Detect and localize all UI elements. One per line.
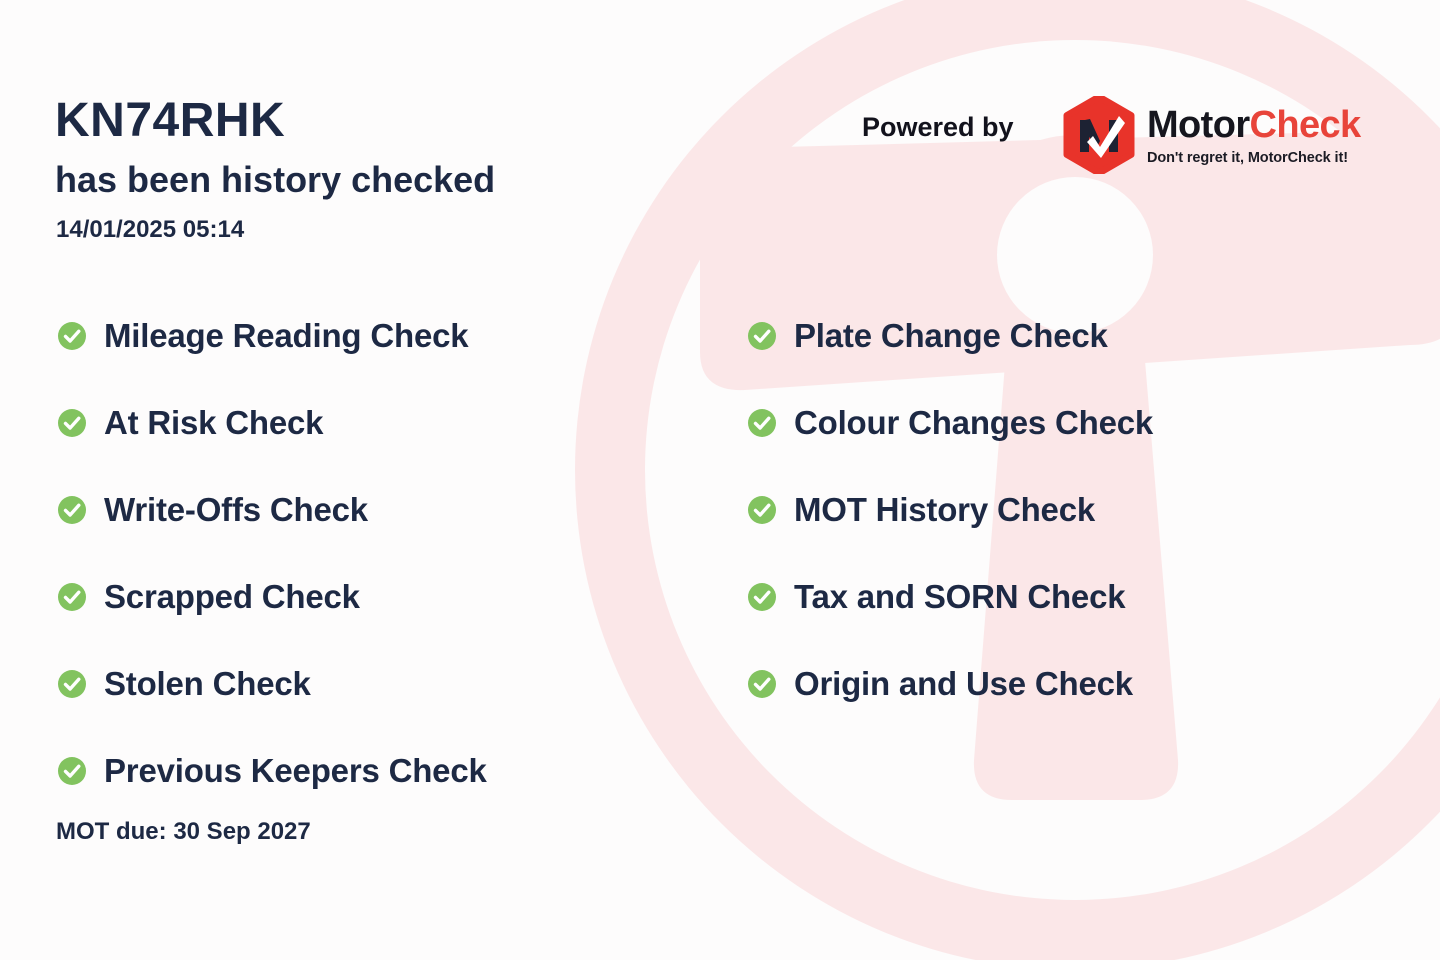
green-check-circle-icon bbox=[748, 409, 776, 437]
list-item: Scrapped Check bbox=[58, 553, 487, 640]
list-item: Colour Changes Check bbox=[748, 379, 1153, 466]
green-check-circle-icon bbox=[58, 670, 86, 698]
list-item: Previous Keepers Check bbox=[58, 727, 487, 814]
list-item: Origin and Use Check bbox=[748, 640, 1153, 727]
check-timestamp: 14/01/2025 05:14 bbox=[56, 216, 244, 244]
list-item: At Risk Check bbox=[58, 379, 487, 466]
headline: has been history checked bbox=[55, 160, 495, 200]
brand-text-block: MotorCheck Don't regret it, MotorCheck i… bbox=[1147, 106, 1361, 166]
check-label: Previous Keepers Check bbox=[104, 754, 487, 787]
check-label: Origin and Use Check bbox=[794, 667, 1133, 700]
page-title: KN74RHK bbox=[55, 96, 285, 146]
brand-tagline: Don't regret it, MotorCheck it! bbox=[1147, 150, 1361, 166]
check-list-right: Plate Change Check Colour Changes Check … bbox=[748, 292, 1153, 727]
check-label: Stolen Check bbox=[104, 667, 311, 700]
motorcheck-logo[interactable]: MotorCheck Don't regret it, MotorCheck i… bbox=[1063, 96, 1361, 174]
list-item: Plate Change Check bbox=[748, 292, 1153, 379]
check-label: Scrapped Check bbox=[104, 580, 360, 613]
brand-wordmark-motor: Motor bbox=[1147, 104, 1250, 146]
history-check-card: KN74RHK has been history checked 14/01/2… bbox=[0, 0, 1440, 960]
green-check-circle-icon bbox=[748, 583, 776, 611]
green-check-circle-icon bbox=[748, 322, 776, 350]
green-check-circle-icon bbox=[748, 670, 776, 698]
green-check-circle-icon bbox=[58, 496, 86, 524]
green-check-circle-icon bbox=[58, 583, 86, 611]
brand-wordmark: MotorCheck bbox=[1147, 106, 1361, 144]
check-label: Mileage Reading Check bbox=[104, 319, 468, 352]
motorcheck-hexagon-m-logo-icon bbox=[1063, 96, 1135, 174]
green-check-circle-icon bbox=[748, 496, 776, 524]
check-label: Tax and SORN Check bbox=[794, 580, 1125, 613]
list-item: Tax and SORN Check bbox=[748, 553, 1153, 640]
check-label: At Risk Check bbox=[104, 406, 323, 439]
green-check-circle-icon bbox=[58, 322, 86, 350]
list-item: MOT History Check bbox=[748, 466, 1153, 553]
green-check-circle-icon bbox=[58, 757, 86, 785]
powered-by-label: Powered by bbox=[862, 112, 1014, 143]
check-label: Colour Changes Check bbox=[794, 406, 1153, 439]
green-check-circle-icon bbox=[58, 409, 86, 437]
check-label: Plate Change Check bbox=[794, 319, 1108, 352]
list-item: Mileage Reading Check bbox=[58, 292, 487, 379]
check-label: Write-Offs Check bbox=[104, 493, 368, 526]
check-list-left: Mileage Reading Check At Risk Check Writ… bbox=[58, 292, 487, 814]
brand-wordmark-check: Check bbox=[1250, 104, 1361, 146]
list-item: Write-Offs Check bbox=[58, 466, 487, 553]
mot-due-text: MOT due: 30 Sep 2027 bbox=[56, 818, 311, 846]
list-item: Stolen Check bbox=[58, 640, 487, 727]
check-label: MOT History Check bbox=[794, 493, 1095, 526]
